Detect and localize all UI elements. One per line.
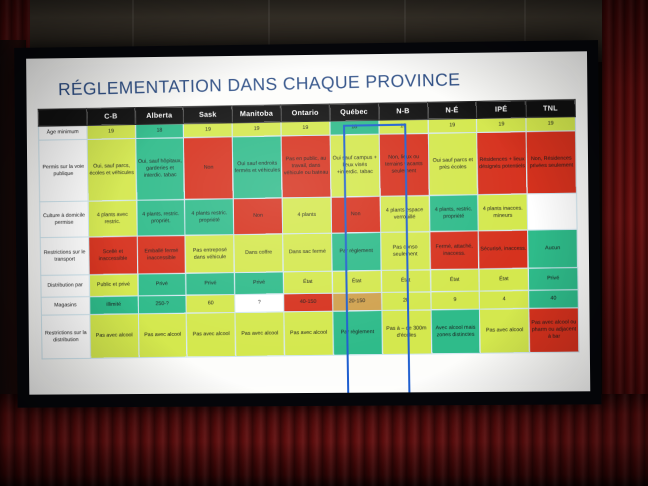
table-corner-cell xyxy=(38,109,87,127)
cell-n-: Avec alcool mais zones distinctes xyxy=(430,309,480,354)
cell-n-: État xyxy=(429,269,478,292)
cell-ontario: Dans sac fermé xyxy=(282,233,331,272)
cell-ontario: État xyxy=(283,271,332,294)
column-header-manitoba: Manitoba xyxy=(231,105,280,123)
table-row: Permis sur la voie publiqueOui, sauf par… xyxy=(38,131,576,202)
cell-ontario: Pas avec alcool xyxy=(283,311,332,356)
slide-title: RÉGLEMENTATION DANS CHAQUE PROVINCE xyxy=(58,66,577,100)
cell-ontario: 4 plants xyxy=(282,197,331,234)
cell-ontario: Pas en public, au travail, dans véhicule… xyxy=(281,135,331,198)
cell-sask: Pas entreposé dans véhicule xyxy=(185,235,234,274)
cell-ip-: Pas avec alcool xyxy=(479,308,529,353)
cell-tnl: Aucun xyxy=(527,229,577,268)
cell-tnl: Privé xyxy=(528,268,578,291)
cell-n-: Oui sauf parcs et près écoles xyxy=(427,132,477,195)
table-body: Âge minimum19181919191819191919Permis su… xyxy=(38,117,579,359)
cell-tnl: Non, Résidences privées seulement xyxy=(526,131,576,194)
cell-manitoba: Pas avec alcool xyxy=(235,312,284,357)
cell-alberta: Oui, sauf hôpitaux, garderies et interdi… xyxy=(135,138,184,201)
presentation-slide: RÉGLEMENTATION DANS CHAQUE PROVINCE C-BA… xyxy=(26,51,590,394)
table-container: C-BAlbertaSaskManitobaOntarioQuébecN-BN-… xyxy=(36,101,579,358)
row-label: Restrictions sur la distribution xyxy=(41,315,90,359)
column-header-c-b: C-B xyxy=(86,108,135,126)
row-label: Âge minimum xyxy=(38,125,87,140)
room-scene: RÉGLEMENTATION DANS CHAQUE PROVINCE C-BA… xyxy=(0,0,648,486)
column-header-ontario: Ontario xyxy=(280,104,329,122)
cell-tnl: Pas avec alcool ou pharm ou adjacent à b… xyxy=(528,308,578,353)
cell-c-b: Oui, sauf parcs, écoles et véhicules xyxy=(86,139,135,202)
cell-qu-bec: Par règlement xyxy=(332,310,382,355)
cell-alberta: Pas avec alcool xyxy=(138,313,187,358)
cell-ip-: 19 xyxy=(476,118,525,133)
cell-qu-bec: Oui sauf campus + lieux visés +interdic.… xyxy=(329,134,379,197)
cell-tnl: 40 xyxy=(528,290,578,309)
cell-n-: Fermé, attaché, inaccess. xyxy=(429,231,479,270)
row-label: Magasins xyxy=(41,297,90,316)
projector-screen: RÉGLEMENTATION DANS CHAQUE PROVINCE C-BA… xyxy=(26,51,590,394)
cell-manitoba: ? xyxy=(234,294,283,313)
cell-ip-: Résidences + lieux désignés potentiels xyxy=(476,132,526,195)
cell-n-b: 20 xyxy=(381,292,430,311)
cell-manitoba: Dans coffre xyxy=(233,234,282,273)
cell-manitoba: Oui sauf endroits fermés et véhicules xyxy=(232,136,282,199)
row-label: Distribution par xyxy=(40,275,89,298)
row-label: Permis sur la voie publique xyxy=(38,139,87,201)
cell-n-b: 19 xyxy=(378,119,427,134)
cell-qu-bec: État xyxy=(332,270,381,293)
cell-alberta: Emballé fermé inaccessible xyxy=(136,235,185,274)
cell-ontario: 19 xyxy=(280,121,329,136)
cell-tnl xyxy=(527,193,577,230)
cell-ip-: État xyxy=(479,268,529,291)
cell-n-b: État xyxy=(380,270,429,293)
cell-qu-bec: 20-150 xyxy=(332,292,381,311)
cell-manitoba: Non xyxy=(233,198,282,235)
column-header-ip-: IPÉ xyxy=(476,100,525,118)
cell-alberta: Privé xyxy=(137,273,186,296)
column-header-tnl: TNL xyxy=(525,100,575,118)
cell-manitoba: Privé xyxy=(234,272,283,295)
cell-alberta: 18 xyxy=(135,124,184,139)
cell-n-: 4 plants, restric. propriété xyxy=(428,195,478,232)
cell-alberta: 250-? xyxy=(137,295,186,314)
cell-n-: 9 xyxy=(430,291,479,310)
cell-c-b: 19 xyxy=(86,125,135,140)
column-header-qu-bec: Québec xyxy=(329,103,378,121)
cell-n-b: Pas conso seulement xyxy=(380,232,430,271)
table-row: Restrictions sur la distributionPas avec… xyxy=(41,308,579,359)
cell-alberta: 4 plants, restric. propriét. xyxy=(136,199,185,236)
cell-n-b: Non, lieux ou terrains vacants seulement xyxy=(378,133,428,196)
cell-sask: 60 xyxy=(186,295,235,314)
cell-sask: Pas avec alcool xyxy=(186,313,235,358)
column-header-sask: Sask xyxy=(183,106,232,124)
cell-sask: Privé xyxy=(185,273,234,296)
cell-sask: 4 plants restric. propriété xyxy=(184,199,233,236)
cell-qu-bec: Par règlement xyxy=(331,232,380,271)
cell-sask: 19 xyxy=(183,123,232,138)
cell-n-b: 4 plants espace verrouillé xyxy=(379,196,429,233)
cell-n-b: Pas à – de 300m d'écoles xyxy=(381,310,431,355)
cell-qu-bec: 18 xyxy=(329,120,378,135)
column-header-alberta: Alberta xyxy=(134,107,183,125)
column-header-n-: N-É xyxy=(427,101,476,119)
cell-ip-: 4 xyxy=(479,290,528,309)
row-label: Restrictions sur le transport xyxy=(40,237,89,276)
curtain-bottom xyxy=(0,394,648,486)
cell-qu-bec: Non xyxy=(330,196,379,233)
cell-tnl: 19 xyxy=(525,117,575,132)
cell-ip-: Sécurisé, inaccess. xyxy=(478,230,528,269)
row-label: Culture à domicile permise xyxy=(39,201,88,238)
cell-c-b: illimité xyxy=(89,296,138,315)
projector-screen-frame: RÉGLEMENTATION DANS CHAQUE PROVINCE C-BA… xyxy=(14,40,601,408)
cell-c-b: Scellé et inaccessible xyxy=(88,236,137,275)
cell-c-b: Public et privé xyxy=(89,274,138,297)
column-header-n-b: N-B xyxy=(378,102,427,120)
regulation-table: C-BAlbertaSaskManitobaOntarioQuébecN-BN-… xyxy=(37,99,579,359)
cell-c-b: 4 plants avec restric. xyxy=(87,200,136,237)
cell-manitoba: 19 xyxy=(232,122,281,137)
cell-sask: Non xyxy=(183,137,233,200)
cell-c-b: Pas avec alcool xyxy=(89,314,138,358)
cell-ip-: 4 plants inacces. mineurs xyxy=(477,194,527,231)
cell-n-: 19 xyxy=(427,118,476,133)
cell-ontario: 40-150 xyxy=(283,293,332,312)
